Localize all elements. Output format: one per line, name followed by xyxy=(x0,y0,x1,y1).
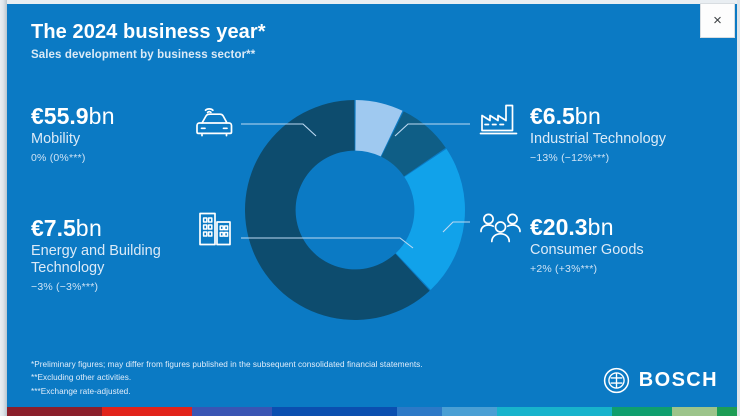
stripe-seg xyxy=(192,407,272,416)
page-subtitle: Sales development by business sector** xyxy=(31,49,266,61)
stat-delta-energy: −3% (−3%***) xyxy=(31,281,206,293)
stat-amount-value: €6.5 xyxy=(530,103,575,129)
stat-amount-unit: bn xyxy=(575,103,601,129)
stat-amount-energy: €7.5bn xyxy=(31,216,206,240)
stripe-seg xyxy=(672,407,717,416)
footnote-2: **Excluding other activities. xyxy=(31,371,423,384)
stat-amount-consumer: €20.3bn xyxy=(530,215,644,239)
stat-delta-consumer: +2% (+3%***) xyxy=(530,263,644,275)
connected-car-icon xyxy=(192,105,236,143)
footnotes: *Preliminary figures; may differ from fi… xyxy=(31,358,423,398)
stat-amount-mobility: €55.9bn xyxy=(31,104,115,128)
stripe-seg xyxy=(397,407,442,416)
brand-supergraphic-stripe xyxy=(7,407,737,416)
stripe-seg xyxy=(7,407,102,416)
slide-left-edge xyxy=(0,0,7,416)
stripe-seg xyxy=(442,407,497,416)
slide-header: The 2024 business year* Sales developmen… xyxy=(31,21,266,61)
stat-mobility: €55.9bn Mobility 0% (0%***) xyxy=(31,104,115,164)
bosch-anchor-icon xyxy=(603,367,630,394)
presentation-slide: × The 2024 business year* Sales developm… xyxy=(0,0,740,416)
stat-consumer-goods: €20.3bn Consumer Goods +2% (+3%***) xyxy=(530,215,644,275)
stat-amount-value: €7.5 xyxy=(31,215,76,241)
stat-amount-unit: bn xyxy=(89,103,115,129)
close-icon[interactable]: × xyxy=(700,3,735,38)
donut-chart xyxy=(240,95,470,325)
stat-energy-and-building-technology: €7.5bn Energy and Building Technology −3… xyxy=(31,216,206,293)
stat-amount-value: €20.3 xyxy=(530,214,588,240)
stat-amount-industrial: €6.5bn xyxy=(530,104,666,128)
stat-name-industrial: Industrial Technology xyxy=(530,131,666,148)
stripe-seg xyxy=(272,407,397,416)
stat-industrial-technology: €6.5bn Industrial Technology −13% (−12%*… xyxy=(530,104,666,164)
footnote-3: ***Exchange rate-adjusted. xyxy=(31,385,423,398)
people-group-icon xyxy=(479,210,523,246)
stat-name-consumer: Consumer Goods xyxy=(530,242,644,259)
footnote-1: *Preliminary figures; may differ from fi… xyxy=(31,358,423,371)
page-title: The 2024 business year* xyxy=(31,21,266,44)
stripe-seg xyxy=(612,407,672,416)
stat-amount-value: €55.9 xyxy=(31,103,89,129)
stat-delta-mobility: 0% (0%***) xyxy=(31,152,115,164)
stat-name-mobility: Mobility xyxy=(31,131,115,148)
bosch-wordmark: BOSCH xyxy=(639,369,718,392)
stripe-seg xyxy=(102,407,192,416)
stat-amount-unit: bn xyxy=(588,214,614,240)
stat-name-energy: Energy and Building Technology xyxy=(31,243,206,277)
factory-icon xyxy=(479,100,519,136)
slide-top-edge xyxy=(0,0,740,4)
buildings-icon xyxy=(196,209,236,249)
stat-amount-unit: bn xyxy=(76,215,102,241)
stat-delta-industrial: −13% (−12%***) xyxy=(530,152,666,164)
bosch-logo: BOSCH xyxy=(603,367,718,394)
stripe-seg xyxy=(497,407,612,416)
stripe-seg xyxy=(717,407,737,416)
